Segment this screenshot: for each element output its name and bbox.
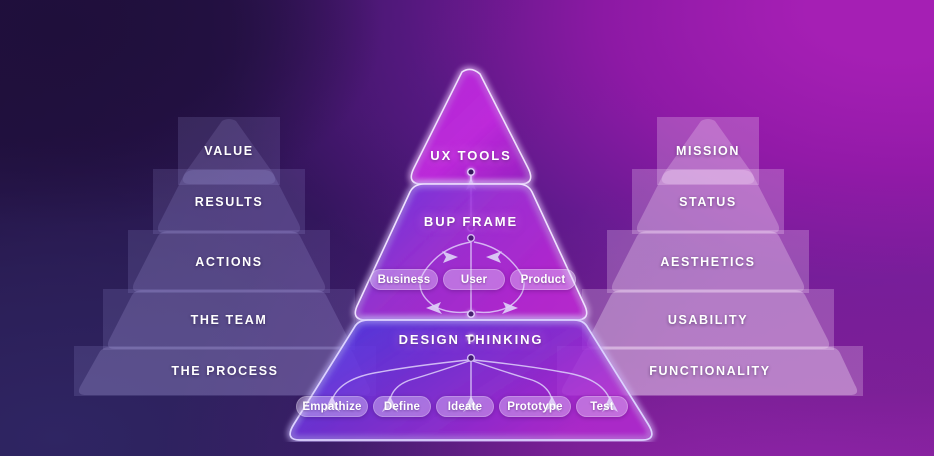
center-pyramid-graphics bbox=[262, 60, 682, 442]
section-title-design-thinking: DESIGN THINKING bbox=[399, 332, 544, 347]
infographic-canvas: VALUE RESULTS ACTIONS THE TEAM THE PROCE bbox=[0, 0, 934, 456]
tier-label: FUNCTIONALITY bbox=[649, 364, 770, 378]
tier-label: ACTIONS bbox=[195, 255, 262, 269]
section-title-ux-tools: UX TOOLS bbox=[430, 148, 511, 163]
pill-prototype[interactable]: Prototype bbox=[499, 396, 571, 417]
section-title-bup-frame: BUP FRAME bbox=[424, 214, 518, 229]
tier-label: THE PROCESS bbox=[171, 364, 278, 378]
pill-user[interactable]: User bbox=[443, 269, 505, 290]
pill-product[interactable]: Product bbox=[510, 269, 576, 290]
tier-label: USABILITY bbox=[668, 313, 748, 327]
ux-method-pyramid: UX TOOLS BUP FRAME DESIGN THINKING Busin… bbox=[262, 60, 682, 442]
pill-business[interactable]: Business bbox=[370, 269, 438, 290]
pill-empathize[interactable]: Empathize bbox=[296, 396, 368, 417]
tier-label: RESULTS bbox=[195, 195, 264, 209]
tier-label: AESTHETICS bbox=[660, 255, 755, 269]
pill-test[interactable]: Test bbox=[576, 396, 628, 417]
pill-ideate[interactable]: Ideate bbox=[436, 396, 494, 417]
tier-label: MISSION bbox=[676, 144, 740, 158]
tier-label: STATUS bbox=[679, 195, 737, 209]
tier-label: VALUE bbox=[204, 144, 253, 158]
tier-label: THE TEAM bbox=[191, 313, 268, 327]
pill-define[interactable]: Define bbox=[373, 396, 431, 417]
